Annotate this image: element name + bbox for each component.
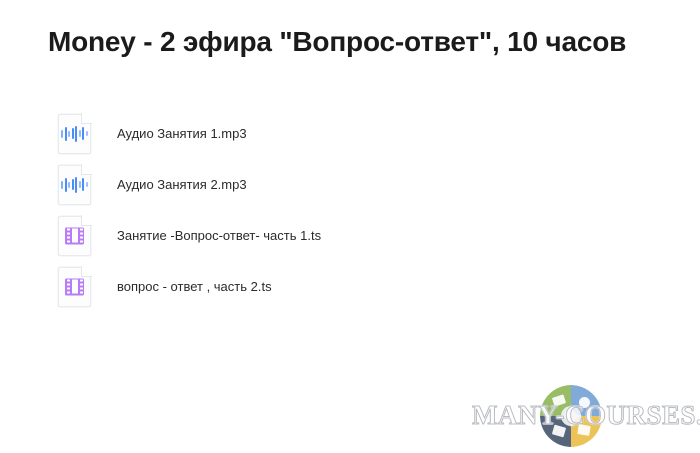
page-root: { "page": { "title": "Money - 2 эфира \"… — [0, 0, 700, 453]
file-name-label: Аудио Занятия 1.mp3 — [117, 127, 247, 140]
file-list: Аудио Занятия 1.mp3 Аудио Занятия 2.mp3 — [58, 108, 478, 312]
list-item[interactable]: Аудио Занятия 1.mp3 — [58, 108, 478, 159]
page-title: Money - 2 эфира "Вопрос-ответ", 10 часов — [48, 26, 626, 58]
file-name-label: Аудио Занятия 2.mp3 — [117, 178, 247, 191]
video-file-icon — [58, 267, 91, 307]
watermark: MANY-COURSES.NET — [472, 383, 692, 451]
list-item[interactable]: Аудио Занятия 2.mp3 — [58, 159, 478, 210]
list-item[interactable]: вопрос - ответ , часть 2.ts — [58, 261, 478, 312]
file-name-label: Занятие -Вопрос-ответ- часть 1.ts — [117, 229, 321, 242]
film-strip-icon — [58, 278, 91, 295]
watermark-text: MANY-COURSES.NET — [472, 400, 692, 431]
list-item[interactable]: Занятие -Вопрос-ответ- часть 1.ts — [58, 210, 478, 261]
audio-file-icon — [58, 114, 91, 154]
waveform-icon — [58, 177, 91, 193]
page-fold-corner — [81, 164, 92, 175]
audio-file-icon — [58, 165, 91, 205]
file-name-label: вопрос - ответ , часть 2.ts — [117, 280, 272, 293]
page-fold-corner — [81, 113, 92, 124]
video-file-icon — [58, 216, 91, 256]
film-strip-icon — [58, 227, 91, 244]
page-fold-corner — [81, 266, 92, 277]
page-fold-corner — [81, 215, 92, 226]
waveform-icon — [58, 126, 91, 142]
